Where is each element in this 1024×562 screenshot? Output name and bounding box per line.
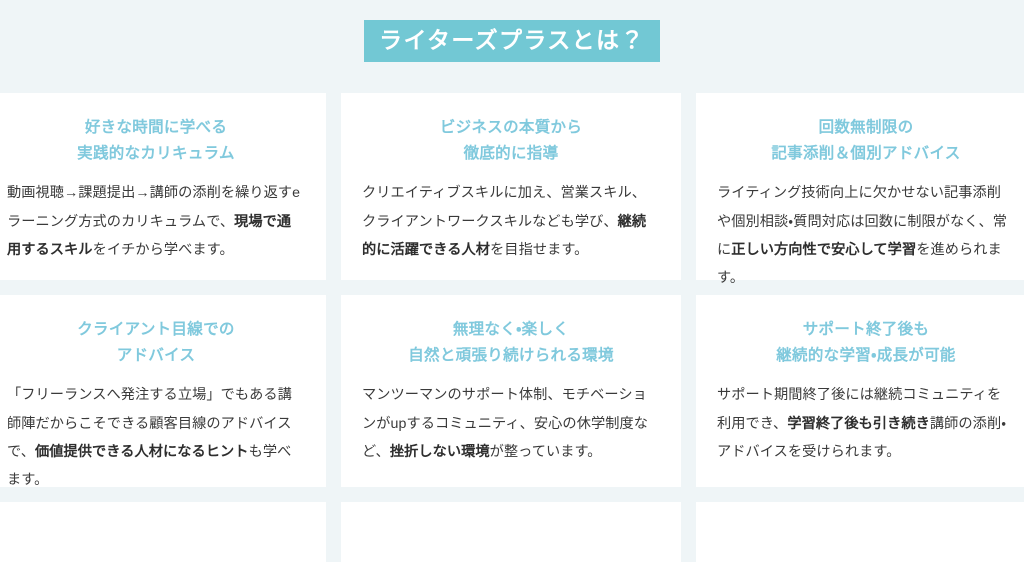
feature-card: ビジネスの本質から徹底的に指導クリエイティブスキルに加え、営業スキル、クライアン…: [341, 93, 681, 280]
feature-card-title-line: アドバイス: [7, 343, 305, 369]
feature-card: 無理なく・楽しく自然と頑張り続けられる環境マンツーマンのサポート体制、モチベーシ…: [341, 295, 681, 487]
feature-card-body-emphasis: 学習終了後も引き続き: [787, 416, 930, 432]
feature-card-body-text: クリエイティブスキルに加え、営業スキル、クライアントワークスキルなども学び、: [362, 185, 646, 229]
feature-card-title-line: 無理なく・楽しく: [362, 317, 660, 343]
feature-card-body: サポート期間終了後には継続コミュニティを利用でき、学習終了後も引き続き講師の添削…: [717, 381, 1015, 466]
feature-card-title-line: ビジネスの本質から: [362, 115, 660, 141]
feature-card-body: 「フリーランスへ発注する立場」でもある講師陣だからこそできる顧客目線のアドバイス…: [7, 381, 305, 495]
feature-card-title: ビジネスの本質から徹底的に指導: [362, 115, 660, 166]
feature-card-partial: [0, 502, 326, 562]
feature-card-title: 好きな時間に学べる実践的なカリキュラム: [7, 115, 305, 166]
feature-card: 回数無制限の記事添削＆個別アドバイスライティング技術向上に欠かせない記事添削や個…: [696, 93, 1024, 280]
feature-card-title: サポート終了後も継続的な学習・成長が可能: [717, 317, 1015, 368]
feature-card-title: 無理なく・楽しく自然と頑張り続けられる環境: [362, 317, 660, 368]
feature-card-title: クライアント目線でのアドバイス: [7, 317, 305, 368]
feature-card-partial: [341, 502, 681, 562]
feature-card-title-line: 記事添削＆個別アドバイス: [717, 141, 1015, 167]
feature-card-title-line: 回数無制限の: [717, 115, 1015, 141]
feature-card-body: ライティング技術向上に欠かせない記事添削や個別相談・質問対応は回数に制限がなく、…: [717, 179, 1015, 293]
feature-card-title-line: 自然と頑張り続けられる環境: [362, 343, 660, 369]
feature-card-body-emphasis: 正しい方向性で安心して学習: [731, 242, 916, 258]
feature-card-body-emphasis: 挫折しない環境: [390, 444, 490, 460]
section-title-badge: ライターズプラスとは？: [364, 20, 660, 62]
feature-card-title-line: 実践的なカリキュラム: [7, 141, 305, 167]
feature-card-body-emphasis: 価値提供できる人材になるヒント: [35, 444, 249, 460]
feature-card-title: 回数無制限の記事添削＆個別アドバイス: [717, 115, 1015, 166]
feature-card: 好きな時間に学べる実践的なカリキュラム動画視聴→課題提出→講師の添削を繰り返すe…: [0, 93, 326, 280]
features-section: ライターズプラスとは？ 好きな時間に学べる実践的なカリキュラム動画視聴→課題提出…: [0, 0, 1024, 497]
feature-card-grid: 好きな時間に学べる実践的なカリキュラム動画視聴→課題提出→講師の添削を繰り返すe…: [0, 93, 1024, 562]
feature-card-body: クリエイティブスキルに加え、営業スキル、クライアントワークスキルなども学び、継続…: [362, 179, 660, 264]
feature-card-title-line: 徹底的に指導: [362, 141, 660, 167]
feature-card-body: マンツーマンのサポート体制、モチベーションがupするコミュニティ、安心の休学制度…: [362, 381, 660, 466]
feature-card-body-text: が整っています。: [490, 444, 602, 460]
feature-card-title-line: 継続的な学習・成長が可能: [717, 343, 1015, 369]
feature-card-body-text: を目指せます。: [490, 242, 588, 258]
feature-card-body: 動画視聴→課題提出→講師の添削を繰り返すeラーニング方式のカリキュラムで、現場で…: [7, 179, 305, 264]
feature-card-title-line: クライアント目線での: [7, 317, 305, 343]
feature-card-title-line: 好きな時間に学べる: [7, 115, 305, 141]
feature-card-partial: [696, 502, 1024, 562]
section-title-area: ライターズプラスとは？: [0, 0, 1024, 93]
feature-card-title-line: サポート終了後も: [717, 317, 1015, 343]
feature-card: クライアント目線でのアドバイス「フリーランスへ発注する立場」でもある講師陣だから…: [0, 295, 326, 487]
feature-card: サポート終了後も継続的な学習・成長が可能サポート期間終了後には継続コミュニティを…: [696, 295, 1024, 487]
feature-card-body-text: をイチから学べます。: [93, 242, 234, 258]
